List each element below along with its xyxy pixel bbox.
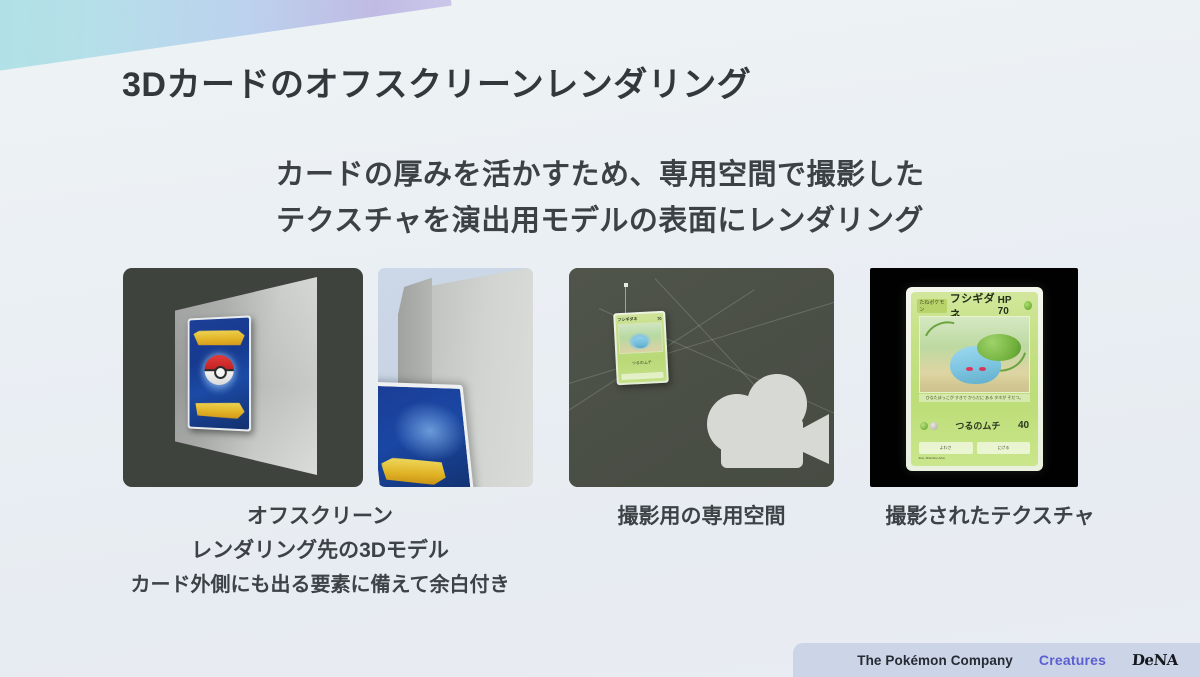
card-weakness: よわさ — [919, 442, 973, 454]
card-artwork — [919, 316, 1031, 393]
card-illustrator: Illus. Mitsuhiro Arita — [919, 456, 945, 465]
captured-card-face: たねポケモン フシギダネ HP 70 — [911, 292, 1038, 466]
card-flavor-text: ひなたぼっこが すきで からだに ある タネが そだつ。 — [919, 394, 1031, 402]
caption-capture-studio-space: 撮影用の専用空間 — [569, 500, 834, 534]
studio-pokemon-card: フシギダネ 70 つるのムチ — [613, 311, 669, 386]
card-header: たねポケモン フシギダネ HP 70 — [917, 297, 1031, 314]
closeup-card-face — [378, 386, 471, 487]
card-attack-row: つるのムチ 40 — [920, 417, 1029, 434]
studio-card-hp: 70 — [657, 315, 662, 320]
caption-line-3: カード外側にも出る要素に備えて余白付き — [75, 568, 565, 602]
caption-line-1: オフスクリーン — [75, 500, 565, 534]
closeup-card-back — [378, 382, 474, 487]
grass-type-icon — [1024, 301, 1032, 310]
logo-the-pokemon-company: The Pokémon Company — [857, 653, 1013, 668]
grass-energy-icon — [920, 422, 928, 430]
movie-camera-icon — [691, 366, 831, 478]
card-attack-name: つるのムチ — [938, 419, 1018, 432]
pokeball-icon — [204, 355, 233, 385]
card-fine-print: Illus. Mitsuhiro Arita — [919, 456, 1031, 465]
figure-offscreen-render-target — [123, 268, 363, 487]
pokemon-logo-bottom — [194, 402, 245, 420]
card-stage-badge: たねポケモン — [917, 299, 946, 313]
card-retreat: にげる — [977, 442, 1031, 454]
card-energy-cost — [920, 422, 938, 430]
figure-captured-texture: たねポケモン フシギダネ HP 70 — [870, 268, 1078, 487]
studio-card-footer — [621, 372, 663, 380]
card-weakness-retreat: よわさ にげる — [919, 442, 1031, 454]
slide-subtitle: カードの厚みを活かすため、専用空間で撮影した テクスチャを演出用モデルの表面にレ… — [0, 152, 1200, 244]
caption-line-2: レンダリング先の3Dモデル — [75, 534, 565, 568]
subtitle-line-1: カードの厚みを活かすため、専用空間で撮影した — [0, 152, 1200, 198]
figure-capture-studio-space: フシギダネ 70 つるのムチ — [569, 268, 834, 487]
card-hp: HP 70 — [998, 295, 1021, 317]
pokemon-logo-top — [194, 329, 245, 347]
studio-card-face: フシギダネ 70 つるのムチ — [615, 313, 666, 383]
caption-offscreen-render-target: オフスクリーン レンダリング先の3Dモデル カード外側にも出る要素に備えて余白付… — [75, 500, 565, 602]
studio-anchor-stem — [625, 287, 626, 313]
bulbasaur-eye-right — [979, 367, 986, 371]
logo-dena: DeNA — [1131, 651, 1178, 669]
studio-card-body: つるのムチ — [620, 354, 663, 371]
presentation-slide: 3Dカードのオフスクリーンレンダリング カードの厚みを活かすため、専用空間で撮影… — [0, 0, 1200, 677]
footer-logo-bar: The Pokémon Company Creatures DeNA — [793, 643, 1200, 677]
studio-card-artwork — [618, 322, 663, 354]
pokemon-card-back — [188, 315, 251, 431]
caption-captured-texture: 撮影されたテクスチャ — [845, 500, 1135, 534]
pokemon-logo-closeup — [380, 457, 446, 485]
subtitle-line-2: テクスチャを演出用モデルの表面にレンダリング — [0, 198, 1200, 244]
card-attack-damage: 40 — [1018, 420, 1029, 431]
colorless-energy-icon — [930, 422, 938, 430]
captured-card-texture: たねポケモン フシギダネ HP 70 — [906, 287, 1043, 471]
slide-title: 3Dカードのオフスクリーンレンダリング — [122, 57, 751, 106]
card-back-face — [190, 318, 249, 430]
bulbasaur-bulb — [977, 334, 1021, 361]
bulbasaur-eye-left — [966, 367, 973, 371]
studio-card-attack: つるのムチ — [621, 359, 664, 367]
logo-creatures: Creatures — [1039, 652, 1106, 668]
figure-render-target-closeup — [378, 268, 533, 487]
